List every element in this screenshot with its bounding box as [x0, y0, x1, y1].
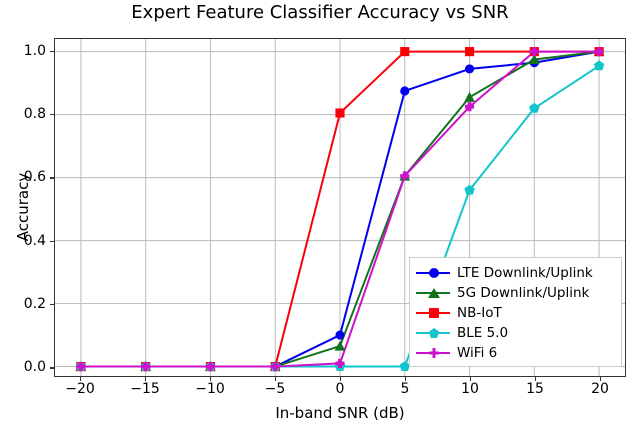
legend-item[interactable]: LTE Downlink/Uplink: [416, 263, 615, 283]
x-tick-mark: [340, 377, 341, 381]
y-tick-label: 1.0: [0, 43, 46, 59]
legend-marker-square-icon: [416, 303, 450, 323]
legend-label: NB-IoT: [457, 305, 502, 321]
legend-label: 5G Downlink/Uplink: [457, 285, 589, 301]
x-tick-label: 10: [440, 381, 500, 397]
legend-marker-plus-icon: [416, 343, 450, 363]
chart-figure: Expert Feature Classifier Accuracy vs SN…: [0, 0, 640, 437]
x-tick-label: 20: [570, 381, 630, 397]
y-tick-label: 0.6: [0, 169, 46, 185]
legend-marker-triangle-icon: [416, 283, 450, 303]
y-tick-label: 0.0: [0, 359, 46, 375]
legend-item[interactable]: NB-IoT: [416, 303, 615, 323]
y-tick-label: 0.2: [0, 296, 46, 312]
x-tick-label: −5: [245, 381, 305, 397]
legend-label: LTE Downlink/Uplink: [457, 265, 593, 281]
x-tick-label: −15: [115, 381, 175, 397]
chart-legend: LTE Downlink/Uplink5G Downlink/UplinkNB-…: [409, 257, 622, 367]
legend-label: BLE 5.0: [457, 325, 508, 341]
legend-item[interactable]: WiFi 6: [416, 343, 615, 363]
legend-label: WiFi 6: [457, 345, 497, 361]
x-tick-label: 15: [505, 381, 565, 397]
legend-item[interactable]: 5G Downlink/Uplink: [416, 283, 615, 303]
x-tick-mark: [210, 377, 211, 381]
x-tick-mark: [470, 377, 471, 381]
x-tick-label: 5: [375, 381, 435, 397]
x-tick-mark: [145, 377, 146, 381]
legend-item[interactable]: BLE 5.0: [416, 323, 615, 343]
x-tick-mark: [275, 377, 276, 381]
legend-marker-circle-icon: [416, 263, 450, 283]
y-tick-label: 0.4: [0, 233, 46, 249]
x-tick-mark: [600, 377, 601, 381]
x-tick-mark: [405, 377, 406, 381]
x-tick-mark: [80, 377, 81, 381]
x-tick-label: 0: [310, 381, 370, 397]
x-axis-label: In-band SNR (dB): [54, 404, 626, 422]
y-tick-label: 0.8: [0, 106, 46, 122]
x-tick-label: −10: [180, 381, 240, 397]
x-tick-mark: [535, 377, 536, 381]
x-tick-label: −20: [50, 381, 110, 397]
legend-marker-pentagon-icon: [416, 323, 450, 343]
